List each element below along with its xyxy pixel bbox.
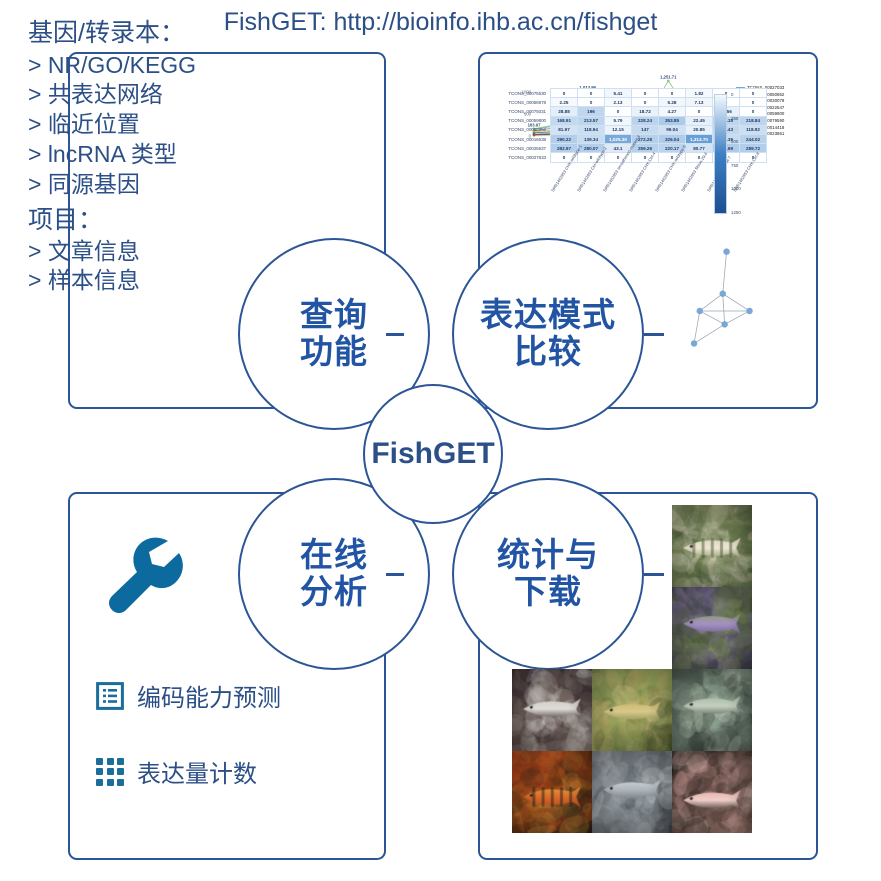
connector-bl	[386, 573, 404, 576]
table-cell: 2.25	[551, 98, 578, 107]
network-node	[691, 340, 698, 347]
table-cell: 1,025.30	[605, 134, 632, 143]
table-cell: 5.28	[659, 98, 686, 107]
network-edge	[700, 311, 725, 324]
table-cell: 0	[578, 89, 605, 98]
circle-fishget-center[interactable]: FishGET	[363, 384, 503, 524]
table-row-label: TCONS_00059800	[486, 116, 551, 125]
gene-transcript-heading: 基因/转录本：	[28, 18, 308, 49]
table-cell: 5.41	[605, 89, 632, 98]
network-edge	[700, 294, 723, 311]
table-cell: 0	[632, 89, 659, 98]
colorbar-tick: 1000	[731, 186, 741, 191]
table-cell: 81.97	[551, 125, 578, 134]
table-cell: 0	[551, 89, 578, 98]
network-edge	[723, 294, 725, 325]
network-node	[746, 308, 753, 315]
network-edges	[694, 252, 749, 344]
network-node	[721, 321, 728, 328]
table-cell: 5.79	[605, 116, 632, 125]
table-cell: 0	[740, 98, 767, 107]
network-edge	[723, 252, 727, 294]
table-cell: 20.85	[686, 125, 713, 134]
fish-photo	[592, 669, 672, 751]
table-cell: 80.77	[686, 144, 713, 153]
network-node	[723, 248, 730, 255]
table-cell: 289.72	[740, 144, 767, 153]
table-cell: 213.57	[578, 116, 605, 125]
feature-coding-potential: 编码能力预测	[96, 678, 281, 713]
feature-label-expression-count: 表达量计数	[137, 754, 257, 789]
network-edge	[694, 324, 725, 343]
bullet-nearby-position: > 临近位置	[28, 110, 308, 140]
coexpression-network	[684, 244, 794, 354]
table-cell: 0	[740, 89, 767, 98]
table-cell: 1,313.70	[686, 134, 713, 143]
network-edge	[694, 311, 700, 344]
table-cell: 2.13	[605, 98, 632, 107]
fish-photo	[512, 669, 592, 751]
colorbar	[714, 94, 727, 214]
svg-text:1,251.71: 1,251.71	[660, 74, 677, 79]
table-cell: 168.91	[551, 116, 578, 125]
bullet-article-info: > 文章信息	[28, 237, 278, 267]
fish-photo	[592, 751, 672, 833]
table-cell: 1.82	[686, 89, 713, 98]
network-node	[697, 308, 704, 315]
table-cell: 0	[740, 107, 767, 116]
table-cell: 0	[605, 107, 632, 116]
poster-canvas: FishGET: http://bioinfo.ihb.ac.cn/fishge…	[0, 0, 881, 881]
table-cell: 118.94	[578, 125, 605, 134]
table-cell: 28.88	[551, 107, 578, 116]
fish-photo	[672, 505, 752, 587]
table-cell: 290.22	[551, 134, 578, 143]
table-cell: 0	[659, 89, 686, 98]
table-cell: 196	[578, 107, 605, 116]
table-row-label: TCONS_00050352	[486, 125, 551, 134]
colorbar-tick: 1250	[731, 210, 741, 215]
connector-tl	[386, 333, 404, 336]
table-cell: 326.04	[659, 134, 686, 143]
table-row-label: TCONS_00025637	[486, 144, 551, 153]
gene-transcript-list: 基因/转录本： > NR/GO/KEGG > 共表达网络 > 临近位置 > ln…	[28, 18, 308, 200]
table-cell: 218.84	[740, 116, 767, 125]
bullet-lncrna-type: > lncRNA 类型	[28, 140, 308, 170]
network-edge	[723, 294, 750, 311]
feature-label-coding-potential: 编码能力预测	[137, 678, 281, 713]
network-node	[719, 290, 726, 297]
circle-statistics-download[interactable]: 统计与下载	[452, 478, 644, 670]
table-cell: 353.85	[659, 116, 686, 125]
table-cell: 0	[578, 98, 605, 107]
fish-photo	[672, 751, 752, 833]
network-edge	[725, 311, 750, 324]
circle-label-expression-comparison: 表达模式比较	[480, 297, 616, 371]
table-row-label: TCONS_00027633	[486, 153, 551, 162]
circle-label-fishget: FishGET	[371, 437, 494, 471]
project-list: 项目： > 文章信息 > 样本信息	[28, 205, 278, 296]
table-row-label: TCONS_00016638	[486, 134, 551, 143]
project-heading: 项目：	[28, 205, 278, 236]
heatmap-x-labels: SRR1462953 CHX-wildtype-1SRR1462953 Ctrl…	[546, 188, 796, 232]
table-cell: 18.72	[632, 107, 659, 116]
colorbar-tick: 250	[731, 116, 738, 121]
connector-tr	[644, 333, 664, 336]
wrench-icon	[100, 533, 186, 619]
network-nodes	[691, 248, 753, 346]
table-cell: 99.04	[659, 125, 686, 134]
table-row-label: TCONS_00056978	[486, 98, 551, 107]
table-cell: 244.02	[740, 134, 767, 143]
table-cell: 4.27	[659, 107, 686, 116]
circle-label-online-analysis: 在线分析	[300, 537, 368, 611]
table-cell: 0	[686, 107, 713, 116]
bullet-sample-info: > 样本信息	[28, 266, 278, 296]
circle-label-query-function: 查询功能	[300, 297, 368, 371]
connector-br	[644, 573, 664, 576]
table-cell: 7.13	[686, 98, 713, 107]
table-cell: 228.24	[632, 116, 659, 125]
table-cell: 12.15	[605, 125, 632, 134]
feature-expression-count: 表达量计数	[96, 754, 257, 789]
fish-photo	[672, 587, 752, 669]
table-cell: 147	[632, 125, 659, 134]
bullet-homologous-gene: > 同源基因	[28, 170, 308, 200]
table-cell: 0	[632, 98, 659, 107]
fish-photo	[512, 751, 592, 833]
table-cell: 139.34	[578, 134, 605, 143]
grid-icon	[96, 758, 124, 786]
circle-expression-comparison[interactable]: 表达模式比较	[452, 238, 644, 430]
table-row-label: TCONS_00075031	[486, 107, 551, 116]
fish-photo	[672, 669, 752, 751]
colorbar-tick: 500	[731, 139, 738, 144]
colorbar-tick: 750	[731, 163, 738, 168]
bullet-coexpression-network: > 共表达网络	[28, 80, 308, 110]
table-row-label: TCONS_00075530	[486, 89, 551, 98]
circle-label-statistics-download: 统计与下载	[497, 537, 599, 611]
colorbar-tick: 0	[731, 92, 733, 97]
table-cell: 118.92	[740, 125, 767, 134]
bullet-nr-go-kegg: > NR/GO/KEGG	[28, 51, 308, 81]
heatmap-table: TCONS_00075530005.41001.8200TCONS_000569…	[486, 88, 786, 163]
list-document-icon	[96, 682, 124, 710]
table-cell: 22.45	[686, 116, 713, 125]
